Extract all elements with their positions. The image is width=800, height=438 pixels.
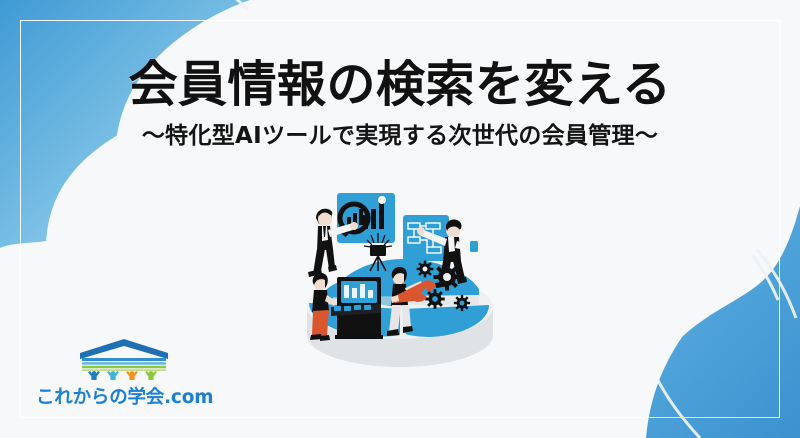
headline-block: 会員情報の検索を変える 〜特化型AIツールで実現する次世代の会員管理〜: [0, 58, 800, 150]
slide-canvas: 会員情報の検索を変える 〜特化型AIツールで実現する次世代の会員管理〜: [0, 0, 800, 438]
people-figures: [88, 371, 157, 380]
logo-text: これからの学会.com: [36, 383, 211, 409]
analytics-panel: [336, 193, 395, 243]
academy-building-icon: [78, 338, 170, 380]
page-subtitle: 〜特化型AIツールで実現する次世代の会員管理〜: [0, 123, 800, 151]
data-search-team-illustration: [275, 185, 525, 375]
kiosk-terminal: [331, 277, 383, 339]
brand-logo[interactable]: これからの学会.com: [36, 338, 211, 409]
page-title: 会員情報の検索を変える: [0, 58, 800, 113]
